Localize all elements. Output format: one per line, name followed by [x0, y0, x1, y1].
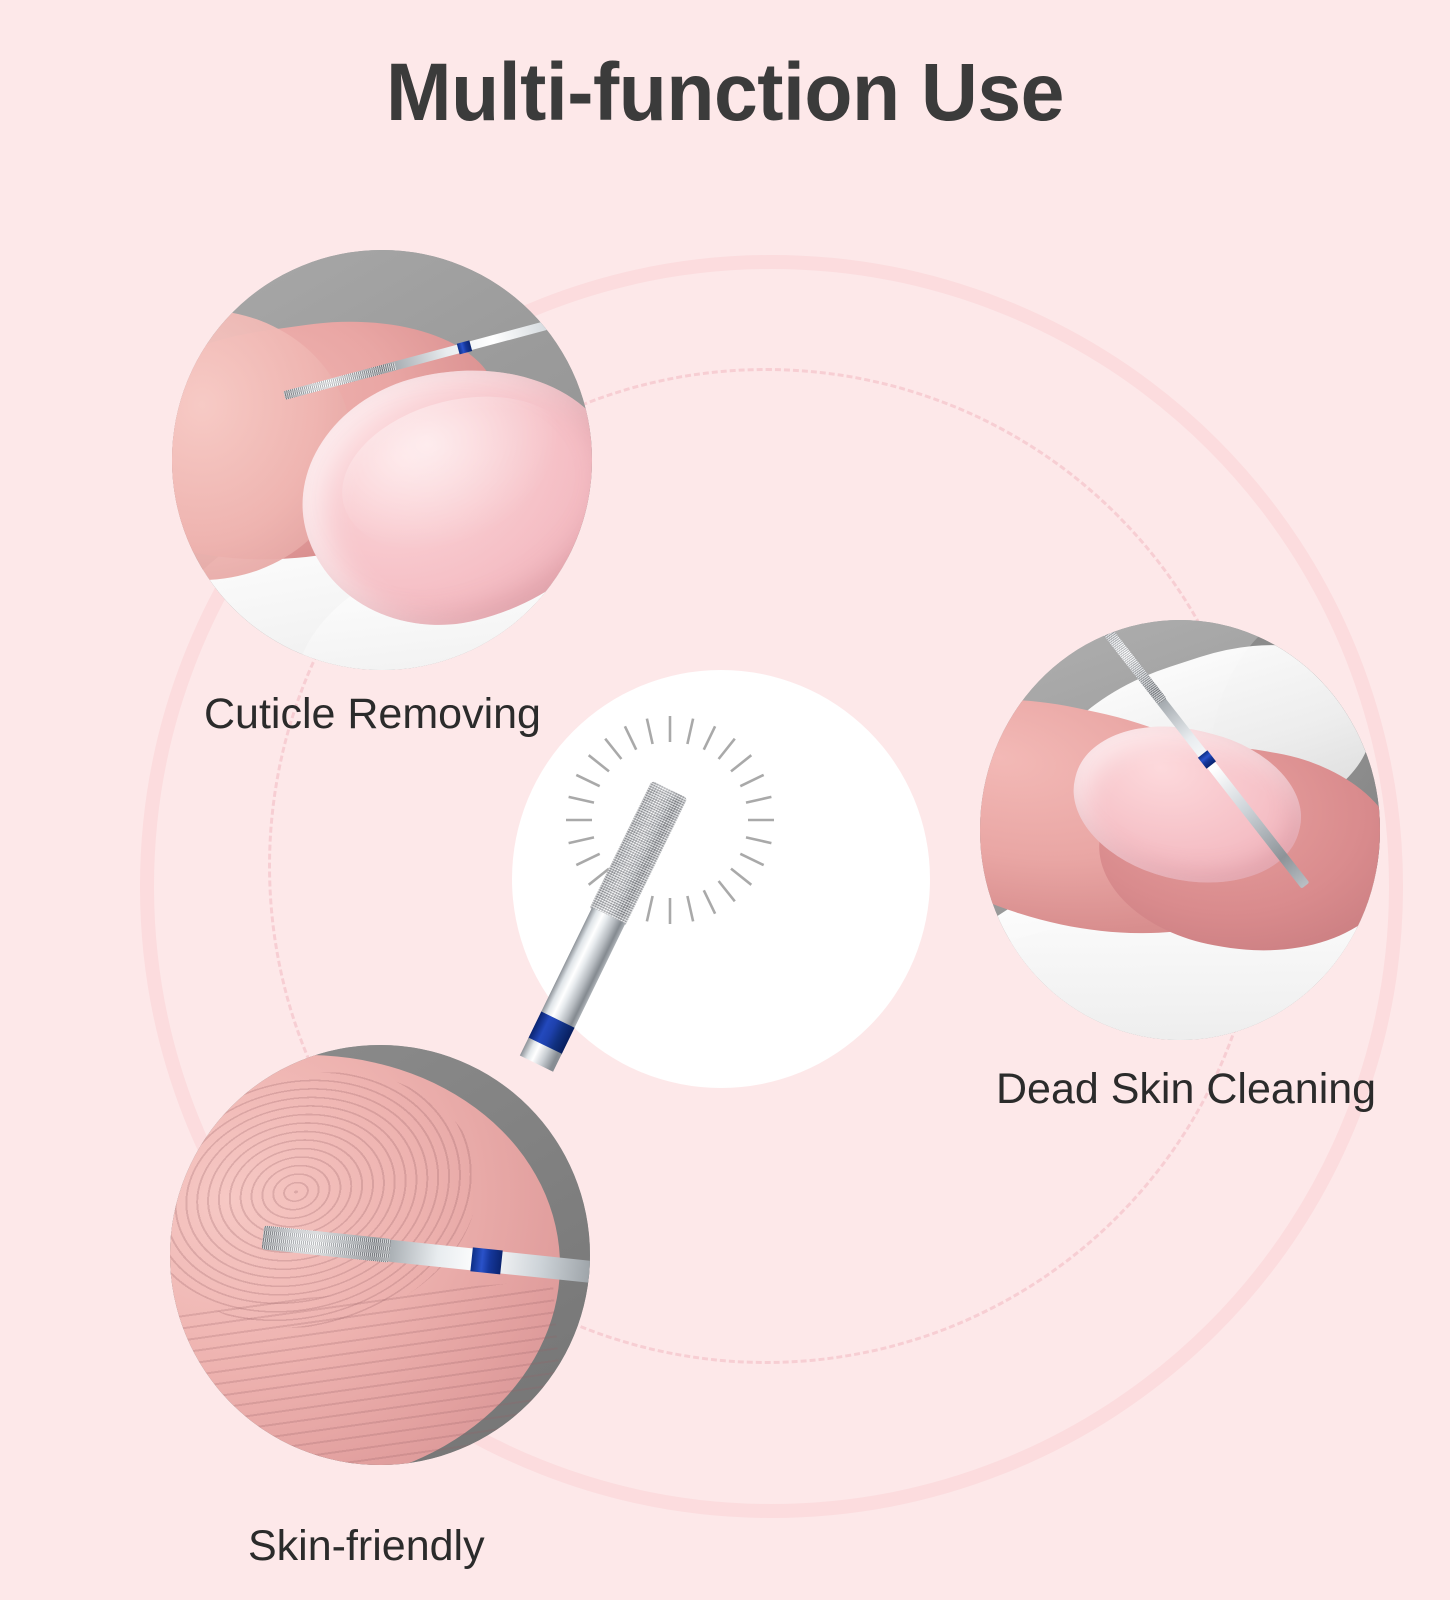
product-hero-circle	[512, 670, 930, 1088]
feature-label-cuticle-removing: Cuticle Removing	[204, 690, 541, 739]
infographic-canvas: Multi-function Use Cuticle Removing	[0, 0, 1450, 1600]
feature-photo-dead-skin-cleaning	[980, 620, 1380, 1040]
feature-label-dead-skin-cleaning: Dead Skin Cleaning	[996, 1065, 1376, 1114]
bit-blue-band	[457, 340, 472, 354]
feature-label-skin-friendly: Skin-friendly	[248, 1522, 485, 1571]
bit-blue-band	[470, 1247, 502, 1274]
feature-photo-cuticle-removing	[172, 250, 592, 670]
feature-photo-skin-friendly	[170, 1045, 590, 1465]
page-title: Multi-function Use	[29, 46, 1421, 140]
